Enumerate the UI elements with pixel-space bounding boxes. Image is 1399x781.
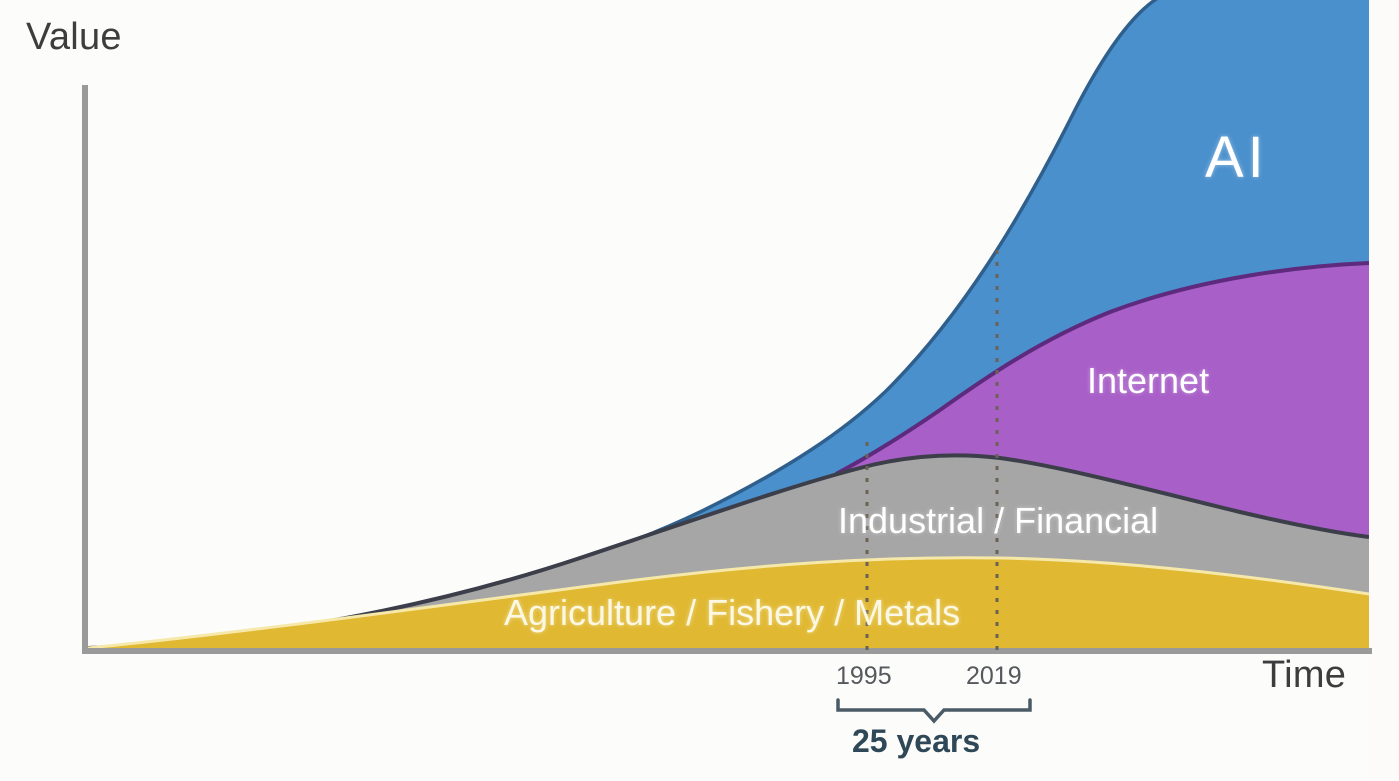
span-label: 25 years	[852, 723, 980, 760]
chart-canvas: Value Time AI Internet Industrial / Fina…	[0, 0, 1399, 781]
stacked-area-chart	[0, 0, 1399, 781]
span-brace	[838, 700, 1030, 721]
tick-label-1995: 1995	[836, 662, 892, 691]
right-edge-strip	[1369, 0, 1399, 781]
tick-label-2019: 2019	[966, 662, 1022, 691]
